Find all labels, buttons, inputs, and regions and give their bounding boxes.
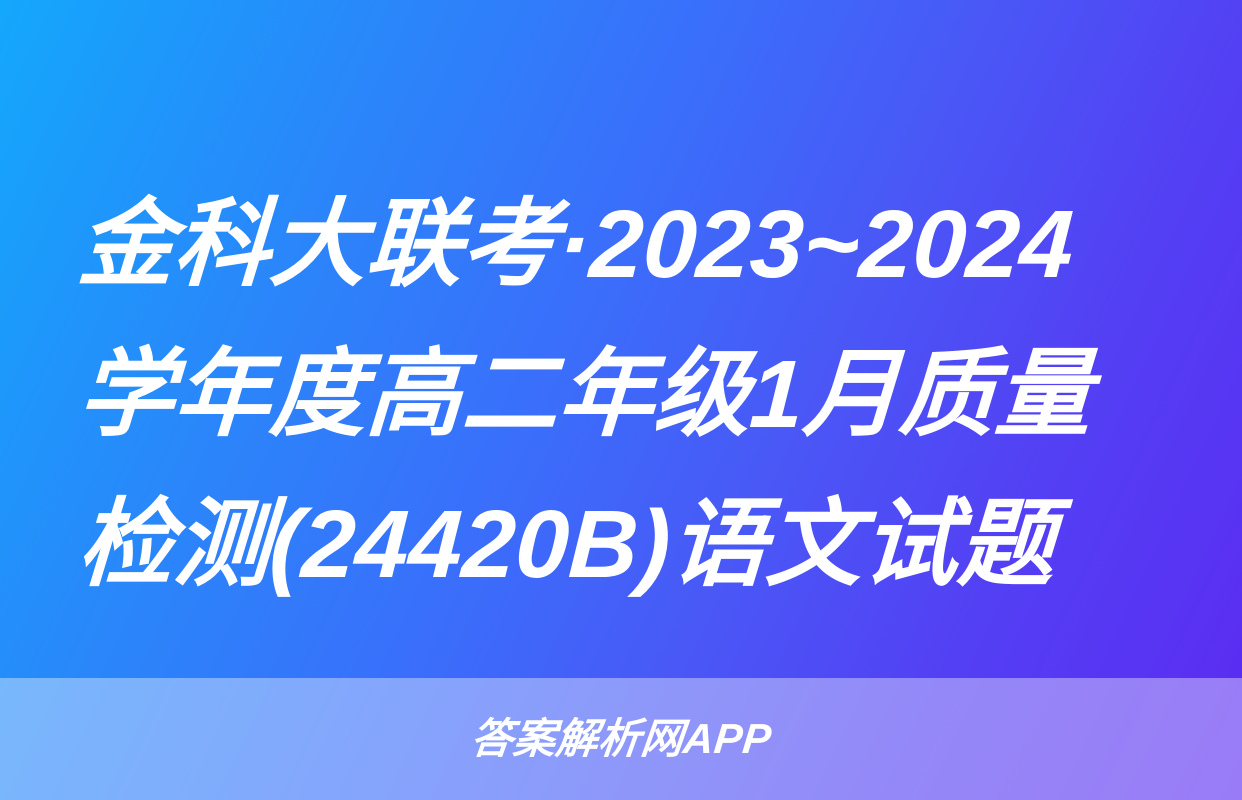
title-line-2: 学年度高二年级1月质量 (74, 320, 1168, 470)
watermark-band: 答案解析网APP (0, 678, 1242, 800)
title-line-3: 检测(24420B)语文试题 (74, 470, 1168, 620)
exam-paper-cover-poster: 金科大联考·2023~2024 学年度高二年级1月质量 检测(24420B)语文… (0, 0, 1242, 800)
watermark-brand-label: 答案解析网APP (469, 718, 774, 760)
page-title: 金科大联考·2023~2024 学年度高二年级1月质量 检测(24420B)语文… (0, 170, 1242, 620)
title-line-1: 金科大联考·2023~2024 (74, 170, 1168, 320)
